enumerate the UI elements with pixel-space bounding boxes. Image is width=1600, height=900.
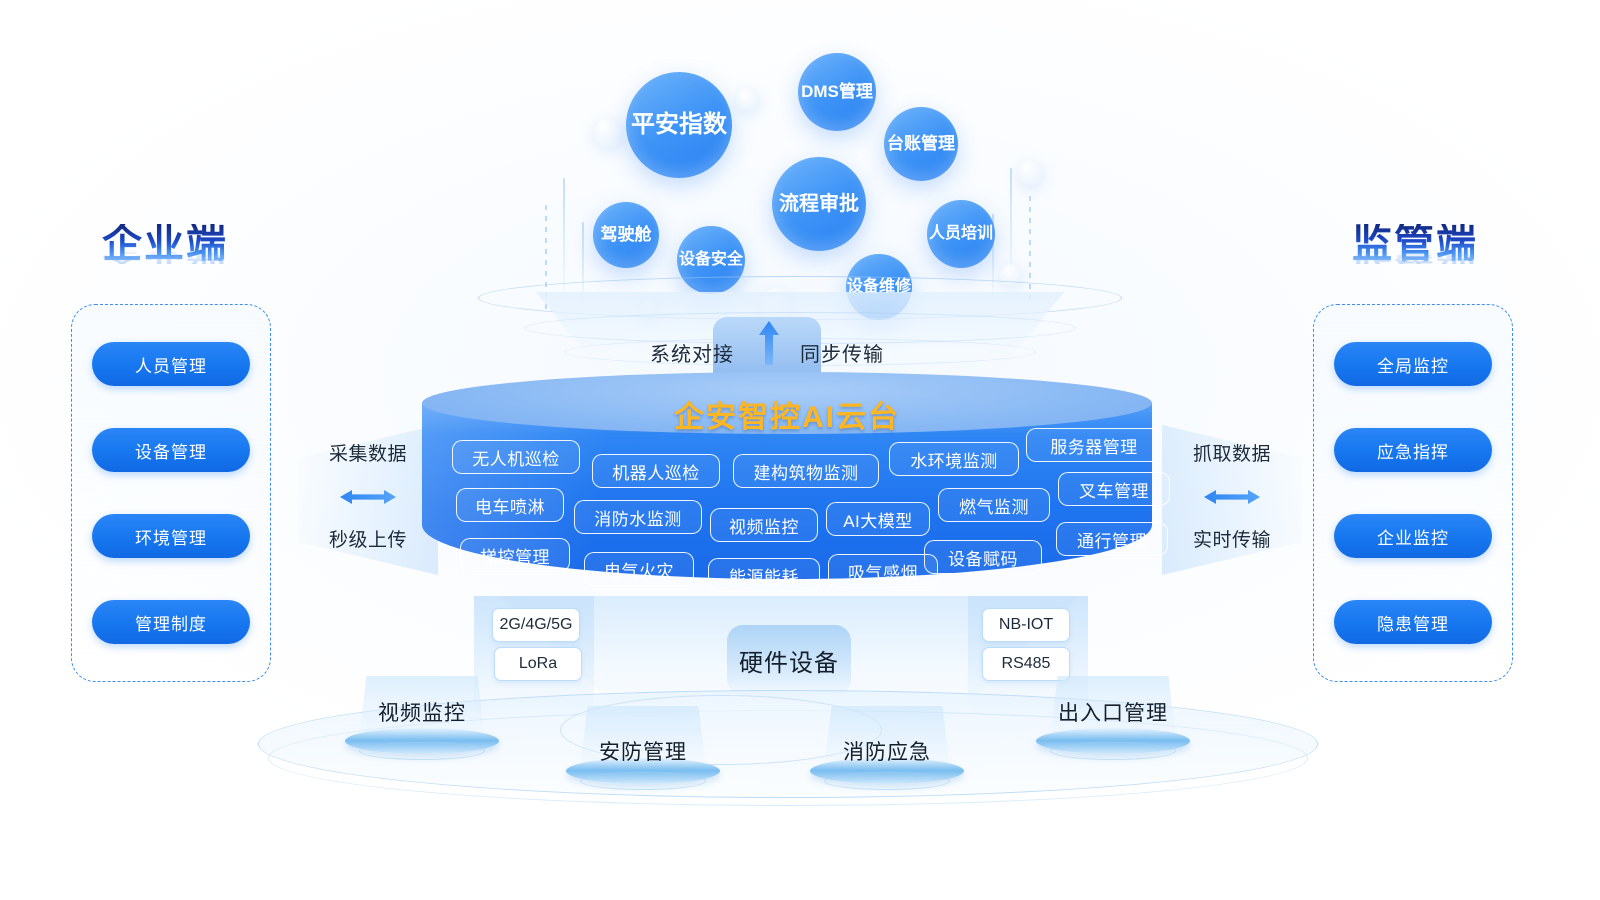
module-bubble-label: 流程审批 <box>779 193 859 215</box>
module-bubble[interactable]: 流程审批 <box>772 157 866 251</box>
pedestal-label: 安防管理 <box>543 736 743 766</box>
capability-chip[interactable]: 吸气感烟 <box>828 554 938 588</box>
module-bubble[interactable]: 驾驶舱 <box>593 202 659 268</box>
module-bubble[interactable]: 平安指数 <box>626 72 732 178</box>
capability-chip[interactable]: 设备赋码 <box>924 540 1042 574</box>
module-bubble-label: 平安指数 <box>631 112 727 139</box>
module-bubble[interactable]: DMS管理 <box>798 53 876 131</box>
flow-label-upload: 秒级上传 <box>298 525 438 552</box>
double-arrow-icon <box>1202 487 1262 512</box>
pedestal-pad-shadow <box>1050 742 1176 760</box>
pedestal-label: 出入口管理 <box>1013 697 1213 727</box>
capability-chip[interactable]: 建构筑物监测 <box>733 454 879 488</box>
connector-label-integration: 系统对接 <box>650 338 734 367</box>
double-arrow-icon <box>338 487 398 512</box>
enterprise-data-flow: 采集数据 秒级上传 <box>298 425 438 575</box>
pedestal-pad-shadow <box>580 772 706 790</box>
regulator-panel: 全局监控 应急指挥 企业监控 隐患管理 <box>1313 304 1513 682</box>
capability-chip[interactable]: 能源能耗 <box>708 558 820 592</box>
capability-chip[interactable]: 通行管理 <box>1056 522 1168 556</box>
sidebar-item-emergency-command[interactable]: 应急指挥 <box>1334 428 1492 472</box>
flow-label-fetch: 抓取数据 <box>1162 439 1302 466</box>
pedestal-label: 视频监控 <box>322 697 522 727</box>
page-title-enterprise: 企业端 <box>102 224 228 264</box>
sidebar-item-personnel[interactable]: 人员管理 <box>92 342 250 386</box>
sidebar-item-environment[interactable]: 环境管理 <box>92 514 250 558</box>
hardware-device-label: 硬件设备 <box>727 625 851 695</box>
capability-chip[interactable]: 电车喷淋 <box>456 488 564 522</box>
capability-chip[interactable]: 电气火灾 <box>584 552 694 586</box>
capability-chip-group: 无人机巡检机器人巡检建构筑物监测水环境监测服务器管理电车喷淋消防水监测视频监控A… <box>436 440 1138 592</box>
pedestal-pad-shadow <box>824 772 950 790</box>
sidebar-item-enterprise-monitoring[interactable]: 企业监控 <box>1334 514 1492 558</box>
protocol-box[interactable]: 2G/4G/5G <box>492 608 580 642</box>
decorative-bubble <box>1018 160 1044 186</box>
module-bubble-label: DMS管理 <box>801 82 873 101</box>
sidebar-item-equipment[interactable]: 设备管理 <box>92 428 250 472</box>
module-bubble-label: 人员培训 <box>929 225 993 243</box>
decorative-bubble <box>594 118 624 148</box>
capability-chip[interactable]: 燃气监测 <box>938 488 1050 522</box>
diagram-canvas: 企业端 监管端 人员管理 设备管理 环境管理 管理制度 全局监控 应急指挥 企业… <box>0 0 1600 900</box>
capability-chip[interactable]: 视频监控 <box>710 508 818 542</box>
sidebar-item-hazard-management[interactable]: 隐患管理 <box>1334 600 1492 644</box>
capability-chip[interactable]: 水环境监测 <box>889 442 1019 476</box>
module-bubble[interactable]: 人员培训 <box>927 200 995 268</box>
sidebar-item-global-monitoring[interactable]: 全局监控 <box>1334 342 1492 386</box>
up-arrow-icon <box>758 320 780 371</box>
decorative-bubble <box>736 88 760 112</box>
module-bubble-label: 台账管理 <box>887 134 955 153</box>
enterprise-panel: 人员管理 设备管理 环境管理 管理制度 <box>71 304 271 682</box>
capability-chip[interactable]: 消防水监测 <box>574 500 702 534</box>
ai-cloud-platform: 企安智控AI云台 无人机巡检机器人巡检建构筑物监测水环境监测服务器管理电车喷淋消… <box>422 372 1152 604</box>
sidebar-item-policy[interactable]: 管理制度 <box>92 600 250 644</box>
capability-chip[interactable]: 无人机巡检 <box>452 440 580 474</box>
protocol-box[interactable]: LoRa <box>494 647 582 681</box>
page-title-regulator: 监管端 <box>1352 224 1478 264</box>
capability-chip[interactable]: 梯控管理 <box>460 538 570 572</box>
module-bubble-label: 驾驶舱 <box>601 225 652 244</box>
capability-chip[interactable]: AI大模型 <box>826 502 930 536</box>
protocol-box[interactable]: NB-IOT <box>982 608 1070 642</box>
capability-chip[interactable]: 叉车管理 <box>1058 472 1170 506</box>
capability-chip[interactable]: 服务器管理 <box>1026 428 1162 462</box>
pedestal-pad-shadow <box>359 742 485 760</box>
capability-chip[interactable]: 机器人巡检 <box>592 454 720 488</box>
flow-label-realtime: 实时传输 <box>1162 525 1302 552</box>
module-bubble-label: 设备安全 <box>679 251 743 269</box>
module-bubble[interactable]: 台账管理 <box>884 107 958 181</box>
pedestal-label: 消防应急 <box>787 736 987 766</box>
connector-label-sync: 同步传输 <box>800 338 884 367</box>
regulator-data-flow: 抓取数据 实时传输 <box>1162 425 1302 575</box>
flow-label-collect: 采集数据 <box>298 439 438 466</box>
